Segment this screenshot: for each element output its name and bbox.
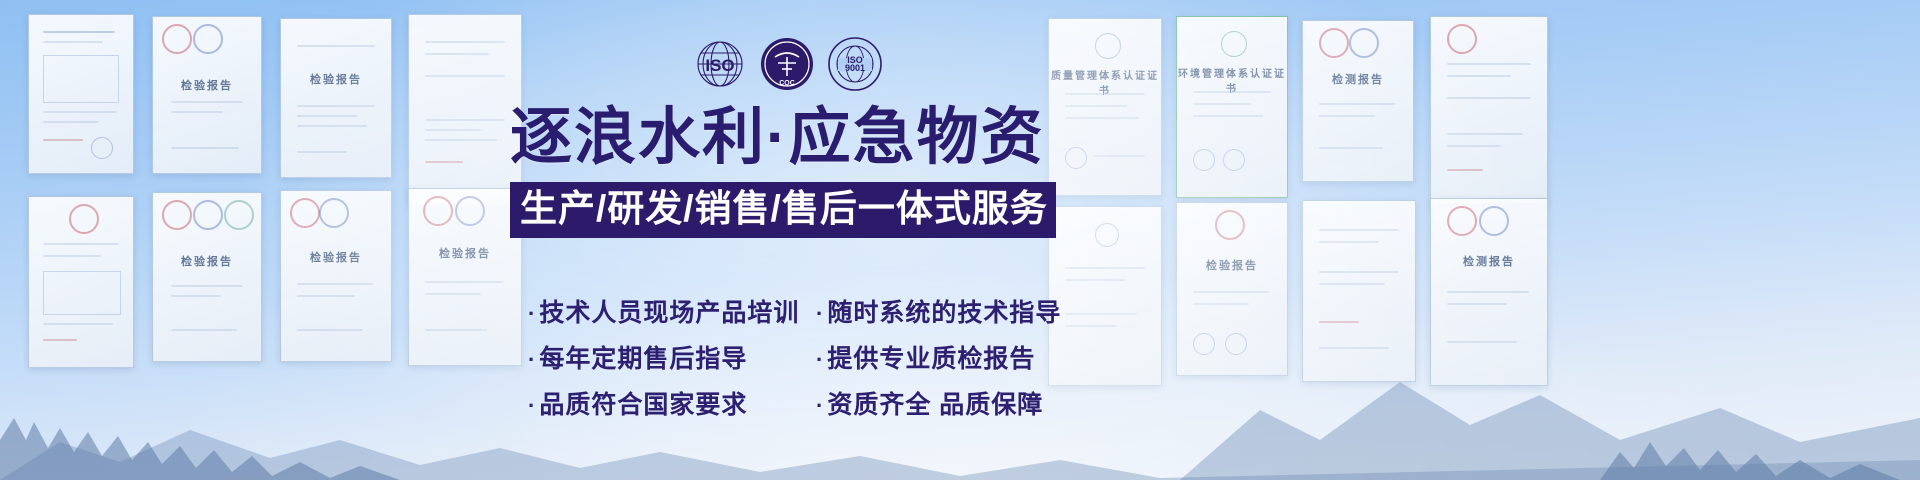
feature-list: · 技术人员现场产品培训 · 随时系统的技术指导 · 每年定期售后指导 · 提供…	[528, 296, 1088, 423]
feature-item: · 技术人员现场产品培训	[528, 296, 800, 331]
bullet-dot-icon: ·	[816, 389, 824, 423]
bullet-dot-icon: ·	[528, 343, 536, 377]
feature-label: 提供专业质检报告	[827, 342, 1035, 376]
feature-label: 资质齐全 品质保障	[827, 388, 1043, 422]
feature-item: · 提供专业质检报告	[816, 342, 1088, 377]
feature-item: · 品质符合国家要求	[528, 388, 800, 423]
iso-seal-label: ISO	[705, 56, 734, 75]
certification-seals: ISO CQC ISO 9001	[693, 33, 883, 95]
page-title: 逐浪水利·应急物资	[510, 100, 1090, 176]
bullet-dot-icon: ·	[816, 343, 824, 377]
certificate-card	[1430, 16, 1548, 204]
certificate-card: 检验报告	[152, 16, 262, 174]
headline-block: 逐浪水利·应急物资 生产/研发/销售/售后一体式服务	[510, 100, 1090, 238]
subtitle-bar: 生产/研发/销售/售后一体式服务	[510, 182, 1056, 238]
feature-label: 技术人员现场产品培训	[539, 296, 799, 330]
cqc-seal-label: CQC	[779, 80, 795, 87]
iso-9001-seal-icon: ISO 9001	[827, 36, 883, 92]
feature-item: · 每年定期售后指导	[528, 342, 800, 377]
feature-label: 品质符合国家要求	[539, 388, 747, 422]
feature-label: 每年定期售后指导	[539, 342, 747, 376]
certificate-card: 检测报告	[1302, 20, 1414, 182]
bullet-dot-icon: ·	[816, 297, 824, 331]
certificate-card: 检验报告	[280, 18, 392, 178]
feature-item: · 资质齐全 品质保障	[816, 388, 1088, 423]
certificate-card: 环境管理体系认证证书	[1176, 16, 1288, 198]
certificate-card	[28, 14, 134, 174]
bullet-dot-icon: ·	[528, 297, 536, 331]
promo-banner: 检验报告 检验报告	[0, 0, 1920, 480]
certificate-card	[408, 14, 522, 206]
feature-label: 随时系统的技术指导	[827, 296, 1061, 330]
iso-globe-seal-icon: ISO	[693, 37, 747, 91]
feature-item: · 随时系统的技术指导	[816, 296, 1088, 331]
svg-text:9001: 9001	[845, 63, 865, 73]
cqc-circular-seal-icon: CQC	[759, 36, 815, 92]
bullet-dot-icon: ·	[528, 389, 536, 423]
